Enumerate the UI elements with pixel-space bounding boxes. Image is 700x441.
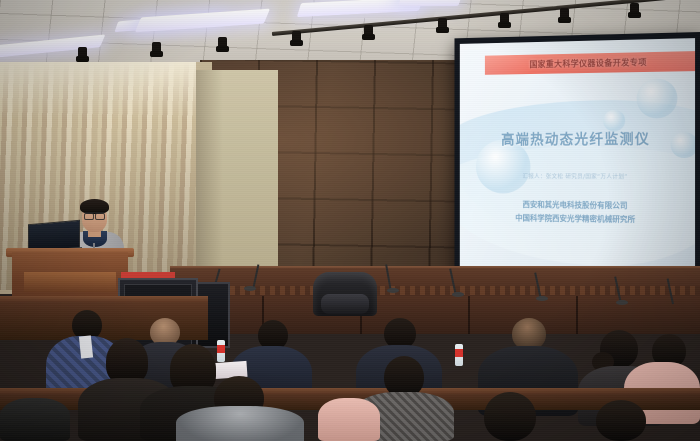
attendee-shirt-collar <box>79 335 93 358</box>
microphone-head-icon <box>452 292 464 297</box>
screen-glare <box>460 38 695 273</box>
water-bottle <box>217 340 225 362</box>
rack-red-strip <box>121 272 175 278</box>
track-spot-light-icon <box>78 47 87 60</box>
attendee-torso <box>0 398 70 441</box>
attendee-head <box>484 392 536 441</box>
water-bottle <box>455 344 463 366</box>
head-table-seam <box>468 296 470 334</box>
podium-panel <box>24 272 116 292</box>
executive-chair <box>313 272 377 316</box>
track-spot-light-icon <box>438 18 447 31</box>
conference-room-photo: 国家重大科学仪器设备开发专项 高端热动态光纤监测仪 汇报人：张文松 研究员/国家… <box>0 0 700 441</box>
track-spot-light-icon <box>292 31 301 44</box>
projection-screen: 国家重大科学仪器设备开发专项 高端热动态光纤监测仪 汇报人：张文松 研究员/国家… <box>454 32 700 280</box>
eyeglasses-icon <box>84 212 105 218</box>
attendee-torso <box>176 406 304 441</box>
microphone-head-icon <box>616 300 628 305</box>
attendee-torso <box>318 398 380 441</box>
track-spot-light-icon <box>152 42 161 55</box>
ceiling-panel-light <box>398 0 461 6</box>
center-wall-shading <box>186 70 278 270</box>
attendee-head <box>596 400 646 441</box>
track-spot-light-icon <box>364 25 373 38</box>
bench-top-far <box>0 296 208 302</box>
track-spot-light-icon <box>560 8 569 21</box>
microphone-head-icon <box>536 296 548 301</box>
projected-slide: 国家重大科学仪器设备开发专项 高端热动态光纤监测仪 汇报人：张文松 研究员/国家… <box>460 38 695 273</box>
head-table-seam <box>576 296 578 334</box>
track-spot-light-icon <box>218 37 227 50</box>
microphone-head-icon <box>244 286 256 291</box>
microphone-head-icon <box>387 288 399 293</box>
track-spot-light-icon <box>630 3 639 16</box>
track-spot-light-icon <box>500 13 509 26</box>
